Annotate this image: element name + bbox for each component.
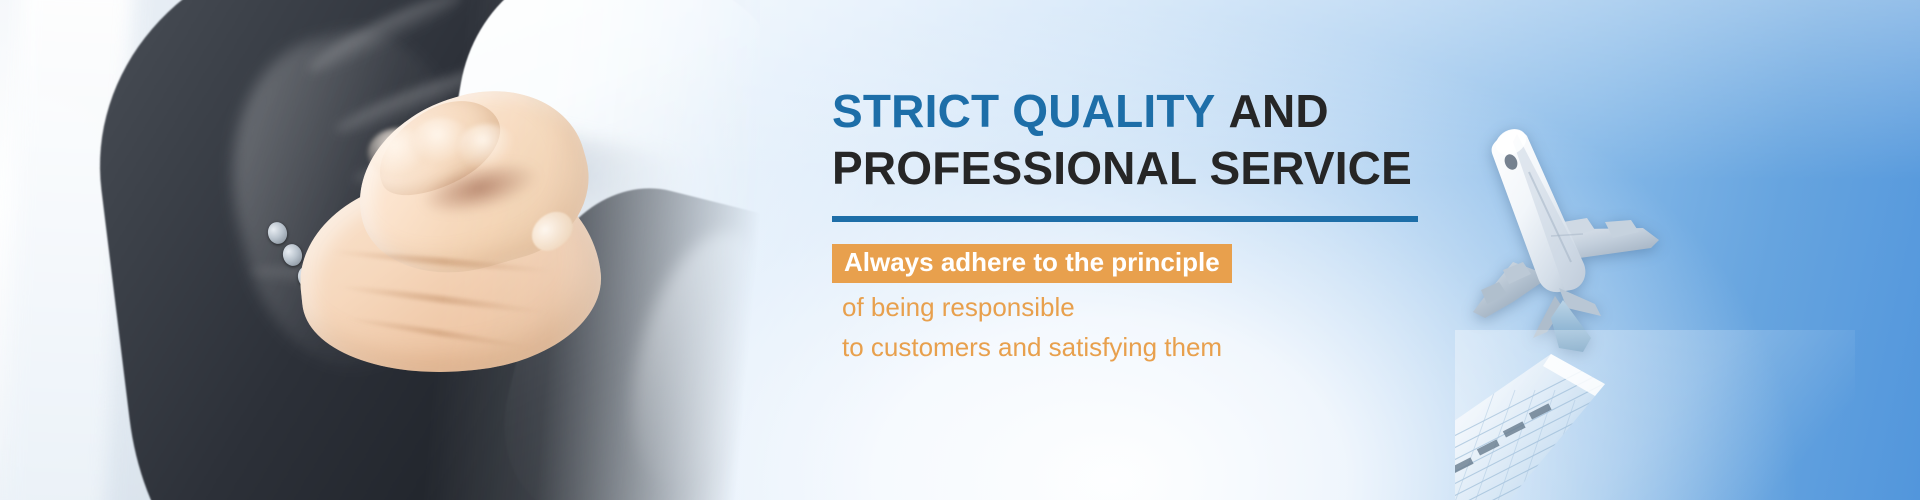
headline-line-1: STRICT QUALITY AND [832, 84, 1472, 139]
knuckle [458, 124, 516, 170]
headline-highlight: STRICT QUALITY [832, 85, 1216, 137]
headline: STRICT QUALITY AND PROFESSIONAL SERVICE [832, 84, 1472, 196]
hero-banner: STRICT QUALITY AND PROFESSIONAL SERVICE … [0, 0, 1920, 500]
banner-copy: STRICT QUALITY AND PROFESSIONAL SERVICE … [832, 84, 1472, 362]
subheading-line-1: Always adhere to the principle [832, 244, 1232, 283]
subheading: Always adhere to the principle of being … [832, 244, 1472, 361]
subheading-line-1-wrap: Always adhere to the principle [832, 244, 1472, 283]
accent-divider [832, 216, 1418, 222]
subheading-line-2: of being responsible [842, 293, 1472, 322]
airplane-icon [1455, 112, 1685, 362]
glass-skyscraper [1455, 330, 1855, 500]
headline-line-2: PROFESSIONAL SERVICE [832, 141, 1472, 196]
headline-line-1-rest: AND [1229, 85, 1329, 137]
handshake-photo [0, 0, 760, 500]
subheading-line-3: to customers and satisfying them [842, 333, 1472, 362]
